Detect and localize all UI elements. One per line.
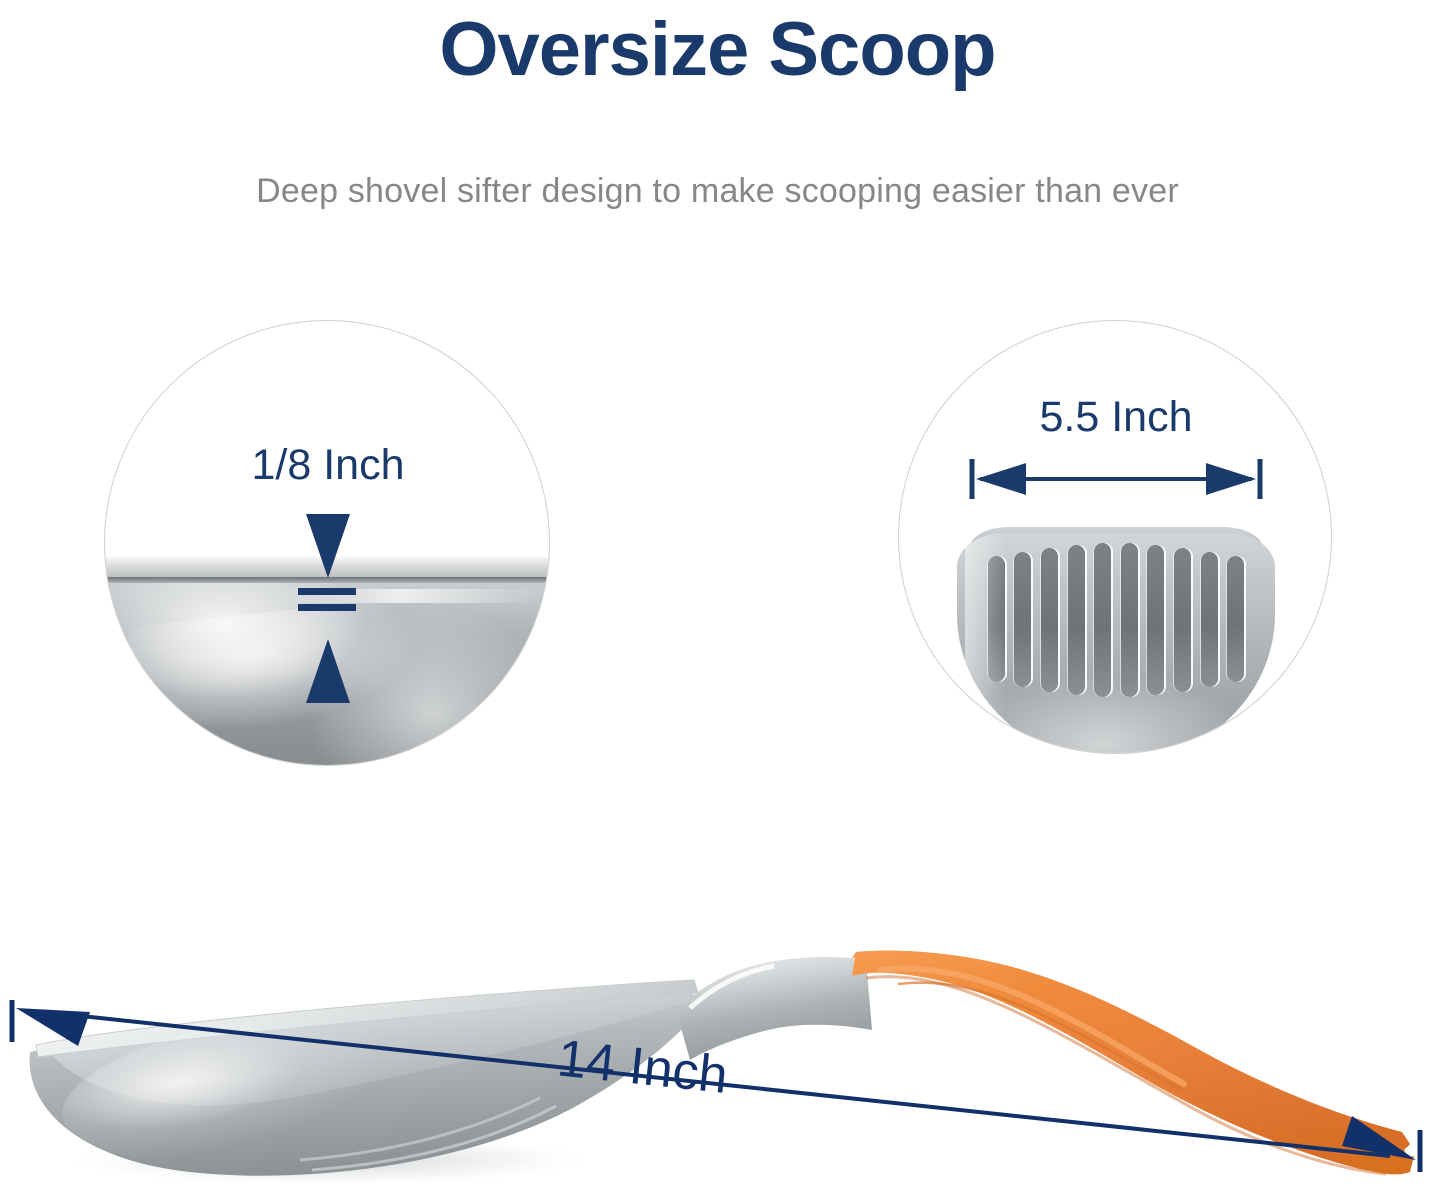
sifter-slot <box>1174 548 1191 692</box>
product-photo-scoop: 14 Inch <box>0 860 1435 1190</box>
thickness-arrow-down-icon <box>306 514 350 578</box>
sifter-slot <box>1014 552 1031 687</box>
scoop-illustration: 14 Inch <box>0 860 1435 1190</box>
infographic-canvas: Oversize Scoop Deep shovel sifter design… <box>0 0 1435 1190</box>
sifter-bowl <box>957 533 1275 754</box>
sifter-slot <box>1041 548 1058 692</box>
sifter-slot <box>1147 545 1164 695</box>
width-dimension-label: 5.5 Inch <box>899 393 1332 442</box>
inset-width-callout: 5.5 Inch <box>898 320 1332 754</box>
sifter-slot <box>1094 543 1111 697</box>
inset-thickness-callout: 1/8 Inch <box>104 320 550 766</box>
width-dimension-arrow-icon <box>966 455 1266 503</box>
sifter-head-photo <box>899 321 1332 754</box>
sifter-slot <box>1068 545 1085 695</box>
thickness-arrow-up-icon <box>306 639 350 703</box>
thickness-dimension-label: 1/8 Inch <box>105 441 550 490</box>
thickness-bar-lower <box>298 604 356 611</box>
sifter-slot <box>1121 543 1138 697</box>
length-arrowhead-left <box>16 1008 90 1046</box>
sifter-slot <box>1227 556 1244 681</box>
page-title: Oversize Scoop <box>0 10 1435 90</box>
sifter-slot <box>1201 552 1218 687</box>
page-subtitle: Deep shovel sifter design to make scoopi… <box>0 172 1435 211</box>
sifter-slot <box>988 556 1005 681</box>
handle-mass <box>846 952 1416 1180</box>
thickness-bar-upper <box>298 588 356 595</box>
